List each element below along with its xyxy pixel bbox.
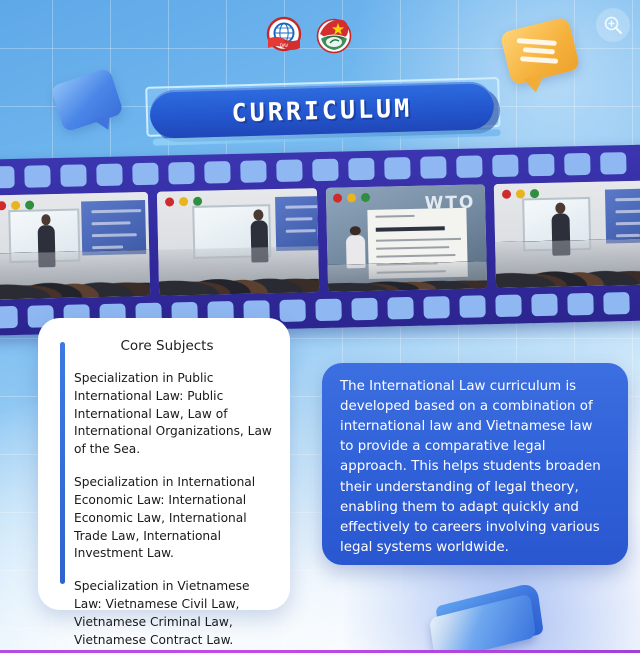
youth-union-logo xyxy=(312,14,356,58)
filmstrip-frame[interactable]: WTO xyxy=(325,184,487,292)
banner-pill: CURRICULUM xyxy=(149,81,494,139)
logo-group: DAV xyxy=(262,14,356,58)
filmstrip-frame[interactable] xyxy=(0,192,150,300)
core-subject-item: Specialization in International Economic… xyxy=(74,474,274,563)
slide-canvas: DAV xyxy=(0,0,640,653)
card-accent-bar xyxy=(60,342,65,584)
filmstrip-frames: WTO xyxy=(0,180,640,299)
core-subjects-card: Core Subjects Specialization in Public I… xyxy=(38,318,290,610)
core-subject-item: Specialization in Public International L… xyxy=(74,370,274,459)
page-title-banner: CURRICULUM xyxy=(145,77,497,149)
blue-speech-bubble-icon xyxy=(50,68,124,133)
blue-folder-icon xyxy=(427,574,553,653)
core-subject-item: Specialization in Vietnamese Law: Vietna… xyxy=(74,578,274,649)
curriculum-description-text: The International Law curriculum is deve… xyxy=(340,377,610,558)
filmstrip-frame[interactable] xyxy=(494,180,640,288)
core-subjects-heading: Core Subjects xyxy=(60,338,274,354)
yellow-speech-bubble-icon xyxy=(500,16,581,85)
svg-text:DAV: DAV xyxy=(280,43,289,48)
filmstrip-frame[interactable] xyxy=(157,188,319,296)
dav-logo: DAV xyxy=(262,14,306,58)
zoom-in-icon[interactable] xyxy=(596,8,630,42)
curriculum-description-card: The International Law curriculum is deve… xyxy=(322,363,628,565)
page-title: CURRICULUM xyxy=(231,93,412,127)
classroom-photo-filmstrip: WTO xyxy=(0,144,640,335)
